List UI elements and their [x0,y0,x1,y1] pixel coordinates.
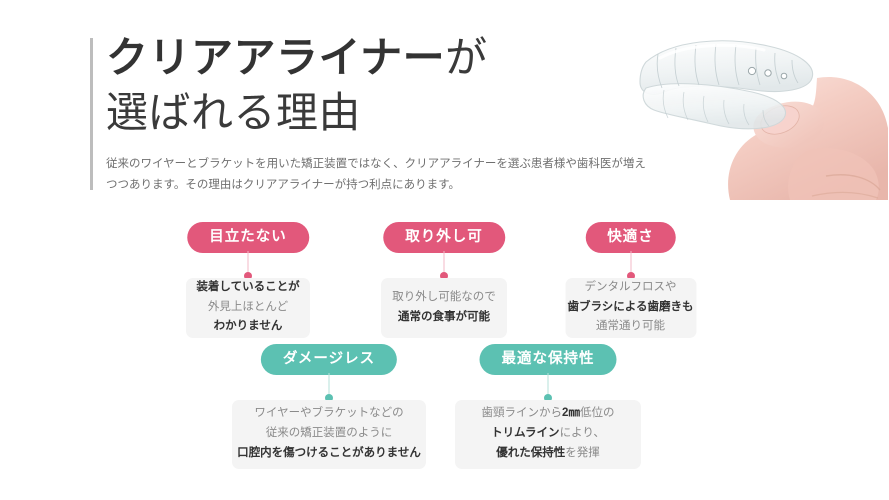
page-title-line2: 選ばれる理由 [106,89,361,136]
benefit-card-2-line-1: 取り外し可能なので [392,288,496,308]
benefit-card-2-line-2: 通常の食事が可能 [398,308,490,328]
benefit-card-3: デンタルフロスや 歯ブラシによる歯磨きも 通常通り可能 [565,278,696,338]
benefit-badge-1: 目立たない [187,222,309,253]
benefit-card-4: ワイヤーやブラケットなどの 従来の矯正装置のように 口腔内を傷つけることがありま… [232,400,426,469]
benefit-card-4-line-3: 口腔内を傷つけることがありません [237,444,421,464]
page-title: クリアアライナーが 選ばれる理由 [106,30,626,141]
benefit-badge-5: 最適な保持性 [480,344,617,375]
benefit-card-4-line-2: 従来の矯正装置のように [266,424,393,444]
benefit-card-1: 装着していることが 外見上ほとんど わかりません [186,278,310,338]
page-title-tail: が [445,34,488,81]
benefit-card-4-line-1: ワイヤーやブラケットなどの [254,404,403,424]
benefit-card-1-line-3: わかりません [214,317,283,337]
benefit-card-3-line-3: 通常通り可能 [596,317,665,337]
page-title-strong: クリアアライナー [106,34,445,81]
benefit-card-3-line-1: デンタルフロスや [585,278,677,298]
benefit-card-5: 歯頸ラインから2㎜低位の トリムラインにより、 優れた保持性を発揮 [455,400,641,469]
benefit-badge-3: 快適さ [585,222,676,253]
infographic-page: クリアアライナーが 選ばれる理由 従来のワイヤーとブラケットを用いた矯正装置では… [0,0,889,500]
clear-aligner-photo [612,0,889,200]
benefit-card-3-line-2: 歯ブラシによる歯磨きも [568,298,694,318]
benefit-card-5-line-3: 優れた保持性を発揮 [496,444,600,464]
benefit-card-5-line-1: 歯頸ラインから2㎜低位の [482,404,615,424]
benefit-card-1-line-2: 外見上ほとんど [208,298,288,318]
benefit-card-2: 取り外し可能なので 通常の食事が可能 [381,278,507,338]
title-accent-rule [90,38,93,190]
benefit-badge-4: ダメージレス [261,344,397,375]
benefit-badge-2: 取り外し可 [383,222,505,253]
lead-paragraph: 従来のワイヤーとブラケットを用いた矯正装置ではなく、クリアアライナーを選ぶ患者様… [106,154,646,197]
benefit-card-1-line-1: 装着していることが [196,278,299,298]
benefit-card-5-line-2: トリムラインにより、 [491,424,605,444]
